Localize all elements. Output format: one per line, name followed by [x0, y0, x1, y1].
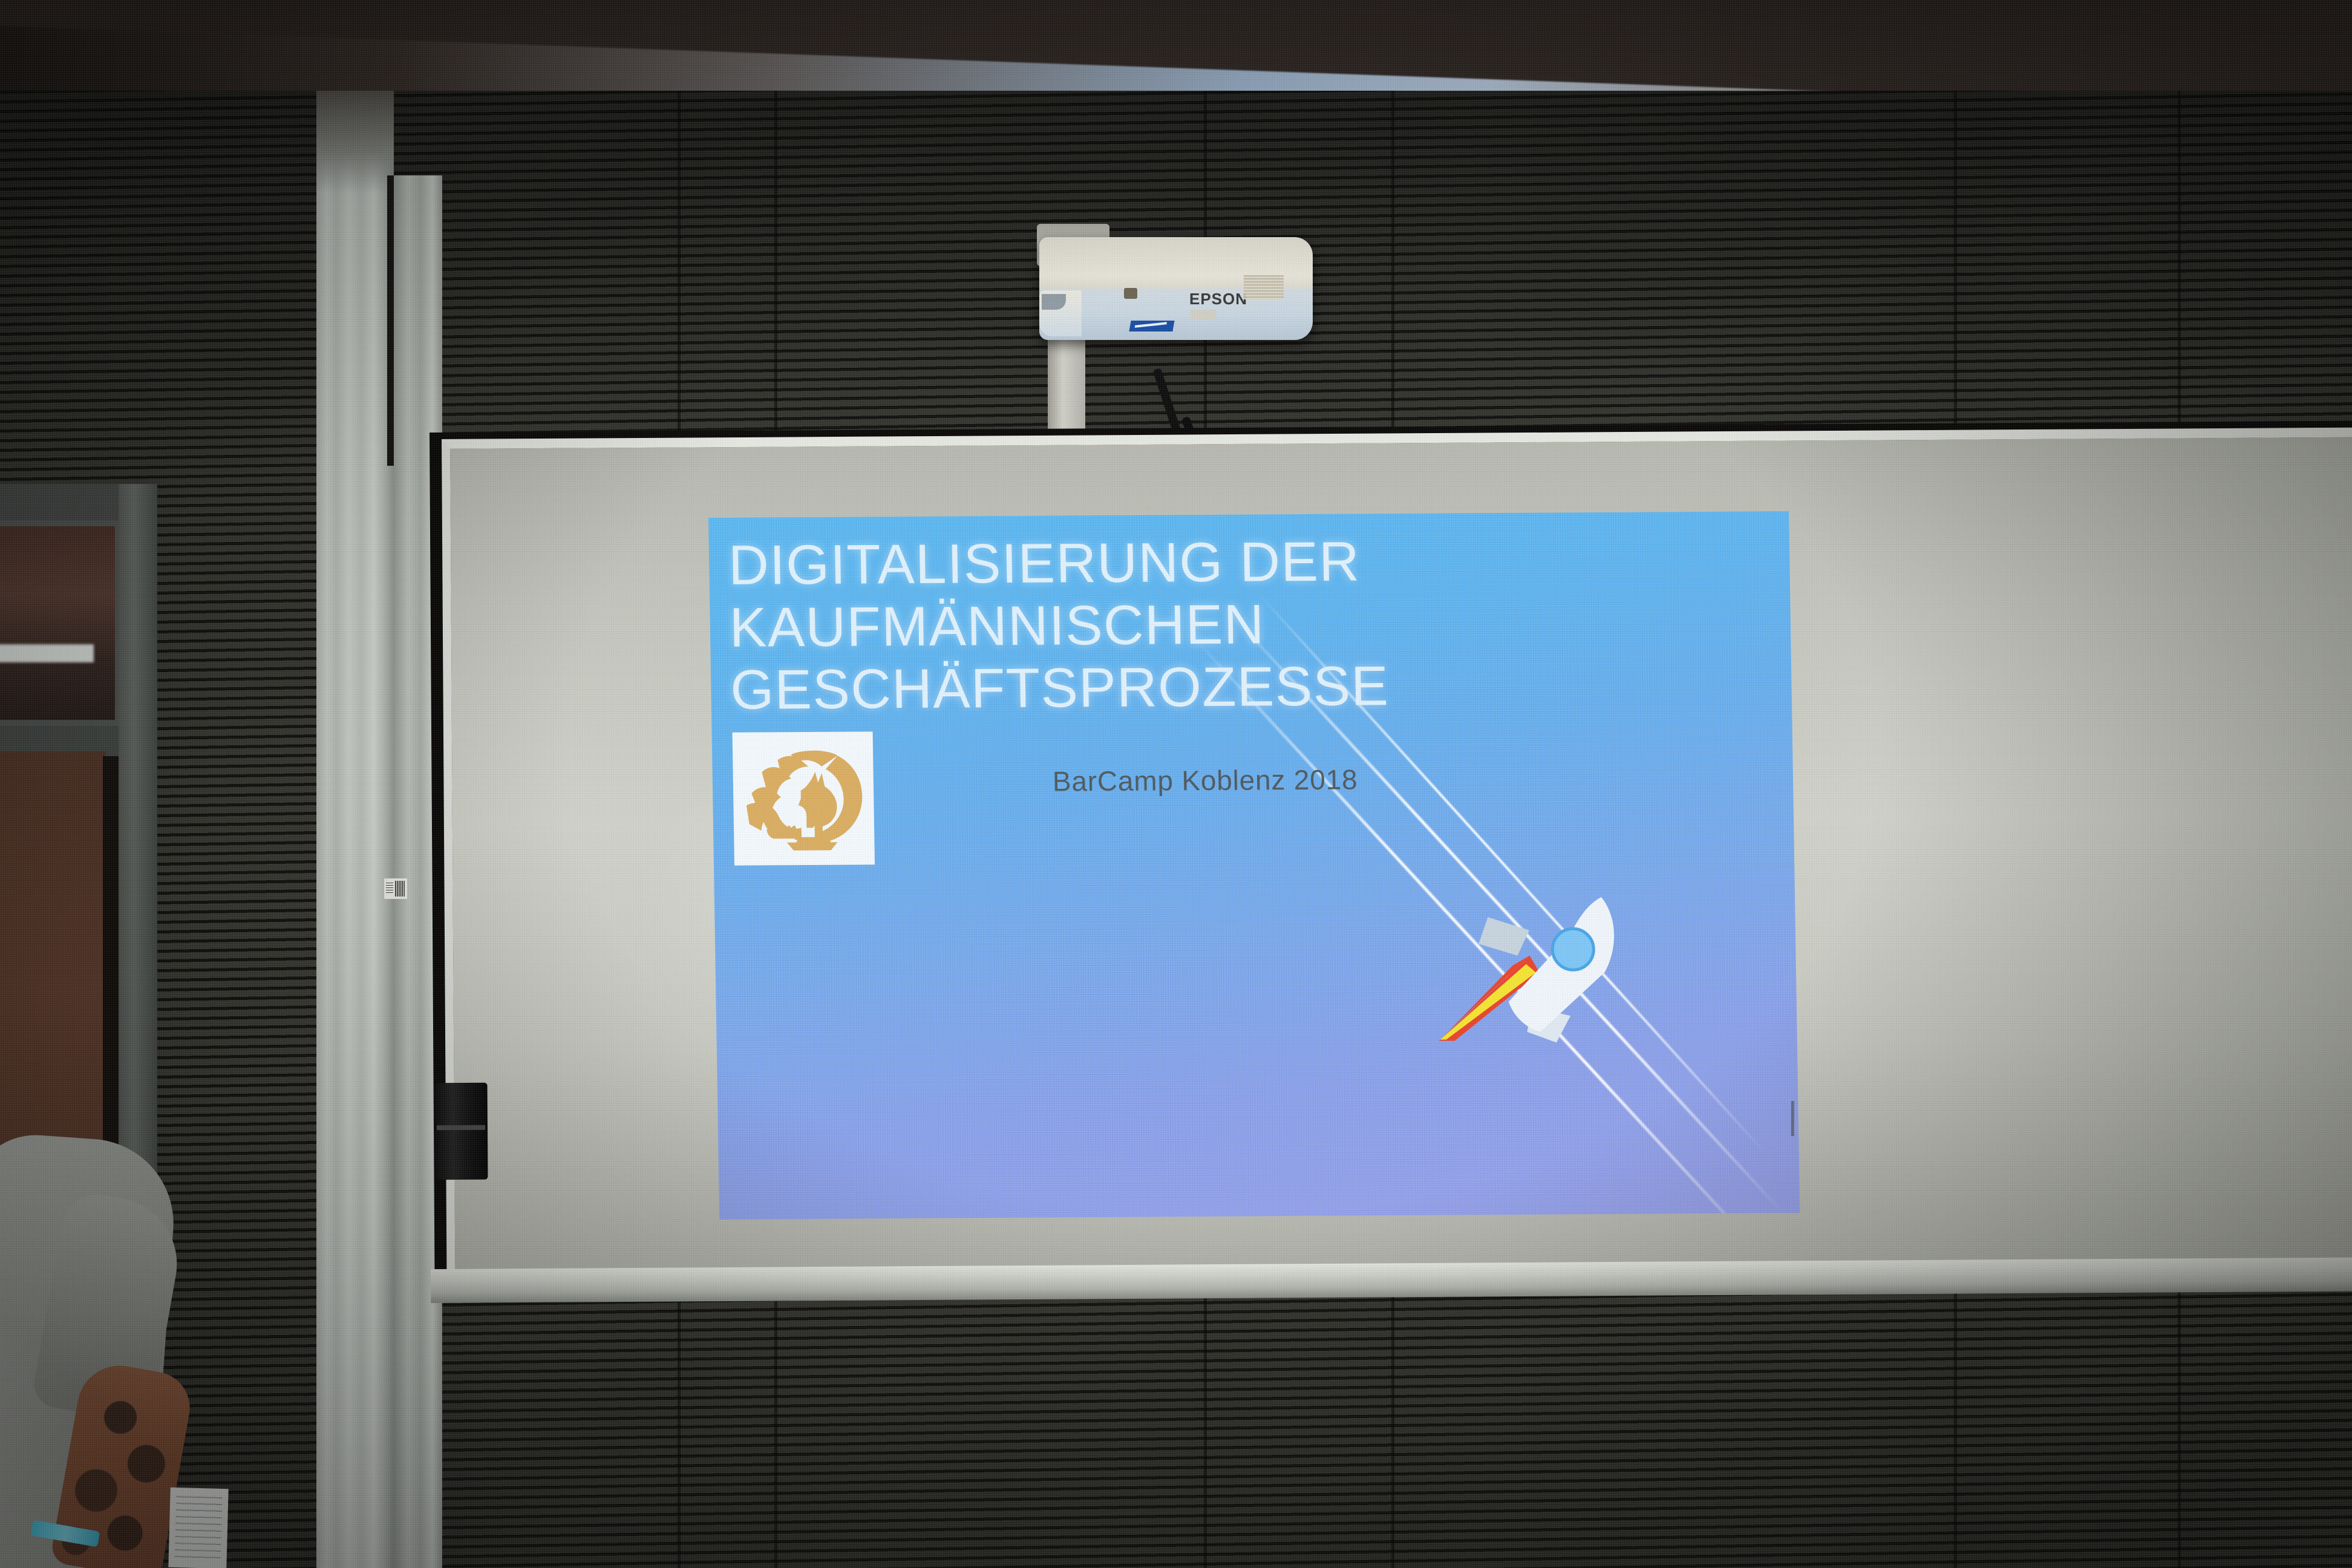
slide-subtitle: BarCamp Koblenz 2018	[1052, 763, 1357, 797]
marker-smudge	[1791, 1101, 1794, 1136]
projector-blue-tag	[1129, 321, 1174, 332]
door-track-pillar	[316, 91, 394, 1568]
projector-lens-notch	[1042, 294, 1066, 310]
slide-background: DIGITALISIERUNG DER KAUFMÄNNISCHEN GESCH…	[708, 511, 1800, 1220]
board-eraser[interactable]	[434, 1083, 488, 1180]
projector-model-sticker	[1191, 310, 1216, 319]
rocket-porthole	[1552, 929, 1594, 970]
slide-title: DIGITALISIERUNG DER KAUFMÄNNISCHEN GESCH…	[728, 529, 1638, 722]
transom-window	[0, 520, 121, 726]
wall-notice-sheet	[168, 1488, 228, 1568]
transom-light-reflection	[0, 644, 94, 662]
projector-brand-label: EPSON	[1189, 290, 1247, 309]
barcamp-logo	[733, 731, 875, 865]
projector-logo-icon	[1124, 288, 1137, 299]
koblenz-eagle-rider-icon	[733, 731, 875, 865]
rocket-fin-top	[1478, 917, 1530, 956]
rocket-illustration	[1410, 887, 1667, 1094]
projected-slide: DIGITALISIERUNG DER KAUFMÄNNISCHEN GESCH…	[708, 511, 1800, 1220]
pillar-top-shadow	[316, 91, 394, 194]
projector-spec-sticker	[1244, 275, 1284, 299]
room-photo-scene: EPSON DIGITALISIERUNG DER KAUFMÄNNISCHEN…	[0, 0, 2352, 1568]
inventory-barcode-sticker	[384, 878, 407, 899]
